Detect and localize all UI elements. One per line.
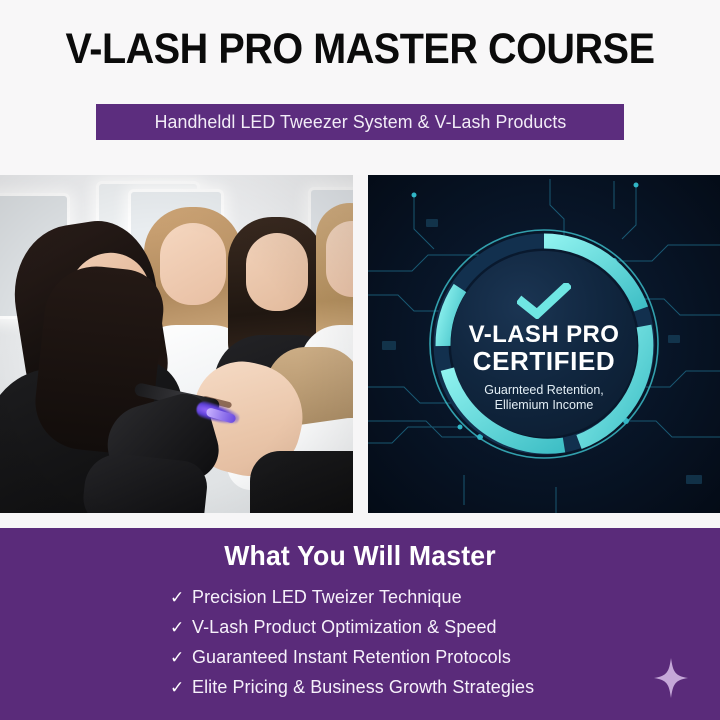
salon-training-photo	[0, 175, 353, 513]
certification-badge-photo: V-LASH PRO CERTIFIED Guarnteed Retention…	[368, 175, 720, 513]
salon-vignette	[0, 175, 353, 513]
check-icon: ✓	[170, 649, 192, 666]
subtitle-banner: Handheldl LED Tweezer System & V-Lash Pr…	[96, 104, 624, 140]
check-icon: ✓	[170, 619, 192, 636]
what-you-will-master-section: What You Will Master ✓ Precision LED Twe…	[0, 528, 720, 720]
list-item: ✓ V-Lash Product Optimization & Speed	[170, 616, 650, 638]
list-item: ✓ Guaranteed Instant Retention Protocols	[170, 646, 650, 668]
badge-tagline-line-two: Elliemium Income	[484, 398, 604, 413]
badge-content: V-LASH PRO CERTIFIED Guarnteed Retention…	[426, 226, 662, 462]
list-item: ✓ Precision LED Tweizer Technique	[170, 586, 650, 608]
check-icon: ✓	[170, 679, 192, 696]
certification-seal: V-LASH PRO CERTIFIED Guarnteed Retention…	[426, 226, 662, 462]
list-item-label: Elite Pricing & Business Growth Strategi…	[192, 676, 534, 698]
list-item-label: V-Lash Product Optimization & Speed	[192, 616, 497, 638]
list-item-label: Precision LED Tweizer Technique	[192, 586, 462, 608]
master-bullet-list: ✓ Precision LED Tweizer Technique ✓ V-La…	[170, 586, 650, 706]
badge-line-one: V-LASH PRO	[469, 323, 620, 347]
four-point-star-icon	[654, 658, 688, 698]
badge-line-two: CERTIFIED	[473, 348, 616, 375]
subtitle-text: Handheldl LED Tweezer System & V-Lash Pr…	[154, 111, 566, 133]
header-section: V-LASH PRO MASTER COURSE Handheldl LED T…	[0, 0, 720, 175]
master-heading: What You Will Master	[18, 540, 702, 572]
salon-scene	[0, 175, 353, 513]
list-item-label: Guaranteed Instant Retention Protocols	[192, 646, 511, 668]
list-item: ✓ Elite Pricing & Business Growth Strate…	[170, 676, 650, 698]
badge-tagline-line-one: Guarnteed Retention,	[484, 383, 604, 398]
badge-tagline: Guarnteed Retention, Elliemium Income	[484, 383, 604, 413]
media-row: V-LASH PRO CERTIFIED Guarnteed Retention…	[0, 175, 720, 513]
check-icon: ✓	[170, 589, 192, 606]
checkmark-icon	[517, 283, 571, 319]
page-title: V-LASH PRO MASTER COURSE	[29, 28, 691, 71]
